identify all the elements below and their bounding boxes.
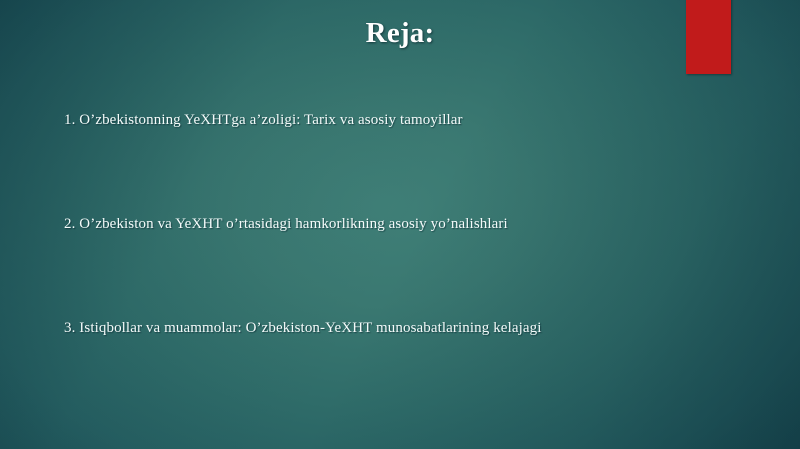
list-item: 2. O’zbekiston va YeXHT o’rtasidagi hamk… (64, 214, 740, 318)
list-item: 1. O’zbekistonning YeXHTga a’zoligi: Tar… (64, 110, 740, 214)
agenda-list: 1. O’zbekistonning YeXHTga a’zoligi: Tar… (64, 110, 740, 422)
list-item: 3. Istiqbollar va muammolar: O’zbekiston… (64, 318, 740, 422)
page-title: Reja: (0, 17, 800, 50)
presentation-slide: Reja: 1. O’zbekistonning YeXHTga a’zolig… (0, 0, 800, 449)
